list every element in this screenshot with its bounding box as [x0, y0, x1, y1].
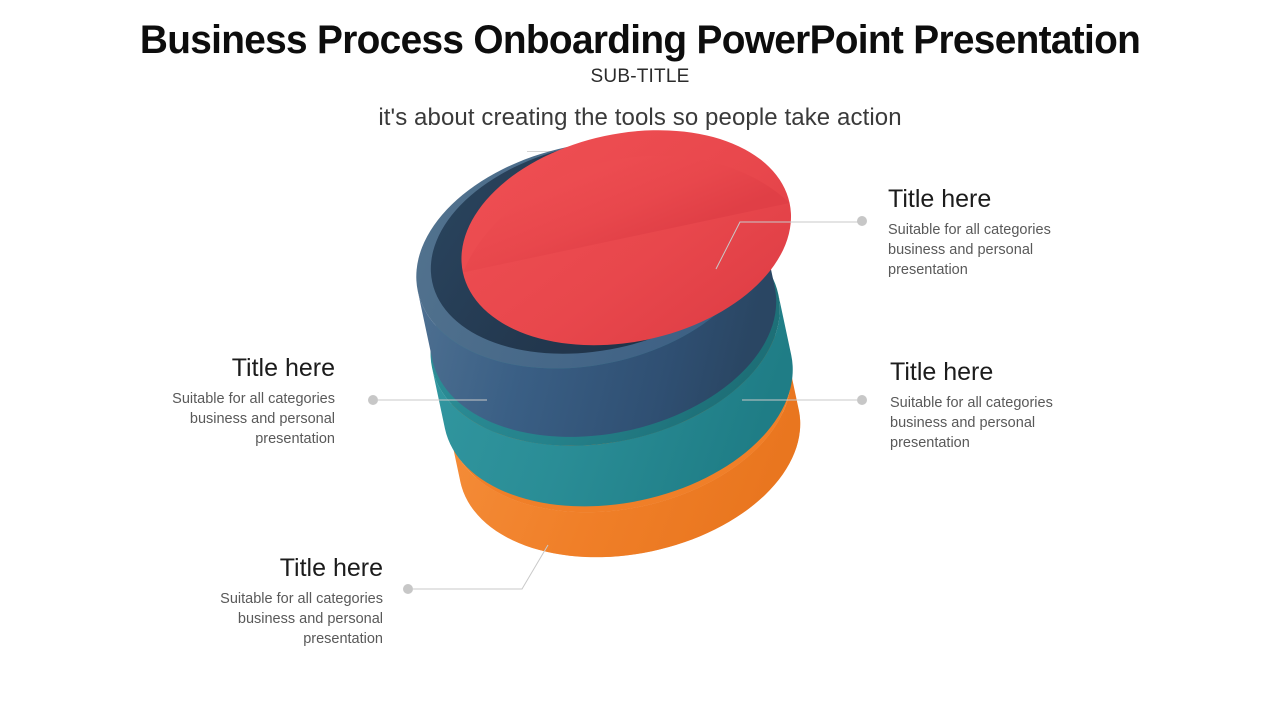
connector-middle-right: [742, 395, 867, 405]
callout-bottom-left[interactable]: Title here Suitable for all categories b…: [201, 555, 383, 649]
callout-title: Title here: [201, 555, 383, 583]
callout-title: Title here: [888, 186, 1088, 214]
connector-dot-middle-left: [368, 395, 378, 405]
callout-body: Suitable for all categories business and…: [153, 389, 335, 449]
page-title: Business Process Onboarding PowerPoint P…: [19, 18, 1261, 63]
header-divider: [527, 151, 740, 152]
slide-tagline: it's about creating the tools so people …: [0, 104, 1280, 132]
layer-red-cap: [441, 101, 811, 374]
slide-canvas: Business Process Onboarding PowerPoint P…: [0, 0, 1280, 720]
connector-top-right: [716, 216, 867, 269]
connector-dot-bottom-left: [403, 584, 413, 594]
connector-dot-top-right: [857, 216, 867, 226]
callout-title: Title here: [153, 355, 335, 383]
callout-middle-left[interactable]: Title here Suitable for all categories b…: [153, 355, 335, 449]
connector-bottom-left: [403, 545, 548, 594]
slide-subtitle: SUB-TITLE: [0, 66, 1280, 88]
callout-middle-right[interactable]: Title here Suitable for all categories b…: [890, 359, 1090, 453]
callout-body: Suitable for all categories business and…: [890, 393, 1090, 453]
layer-teal-slab: [409, 186, 814, 537]
layer-orange-base: [428, 259, 821, 587]
callout-title: Title here: [890, 359, 1090, 387]
connector-dot-middle-right: [857, 395, 867, 405]
callout-body: Suitable for all categories business and…: [888, 220, 1088, 280]
callout-body: Suitable for all categories business and…: [201, 589, 383, 649]
layer-navy-slab: [395, 110, 800, 467]
connector-middle-left: [368, 395, 487, 405]
callout-top-right[interactable]: Title here Suitable for all categories b…: [888, 186, 1088, 280]
